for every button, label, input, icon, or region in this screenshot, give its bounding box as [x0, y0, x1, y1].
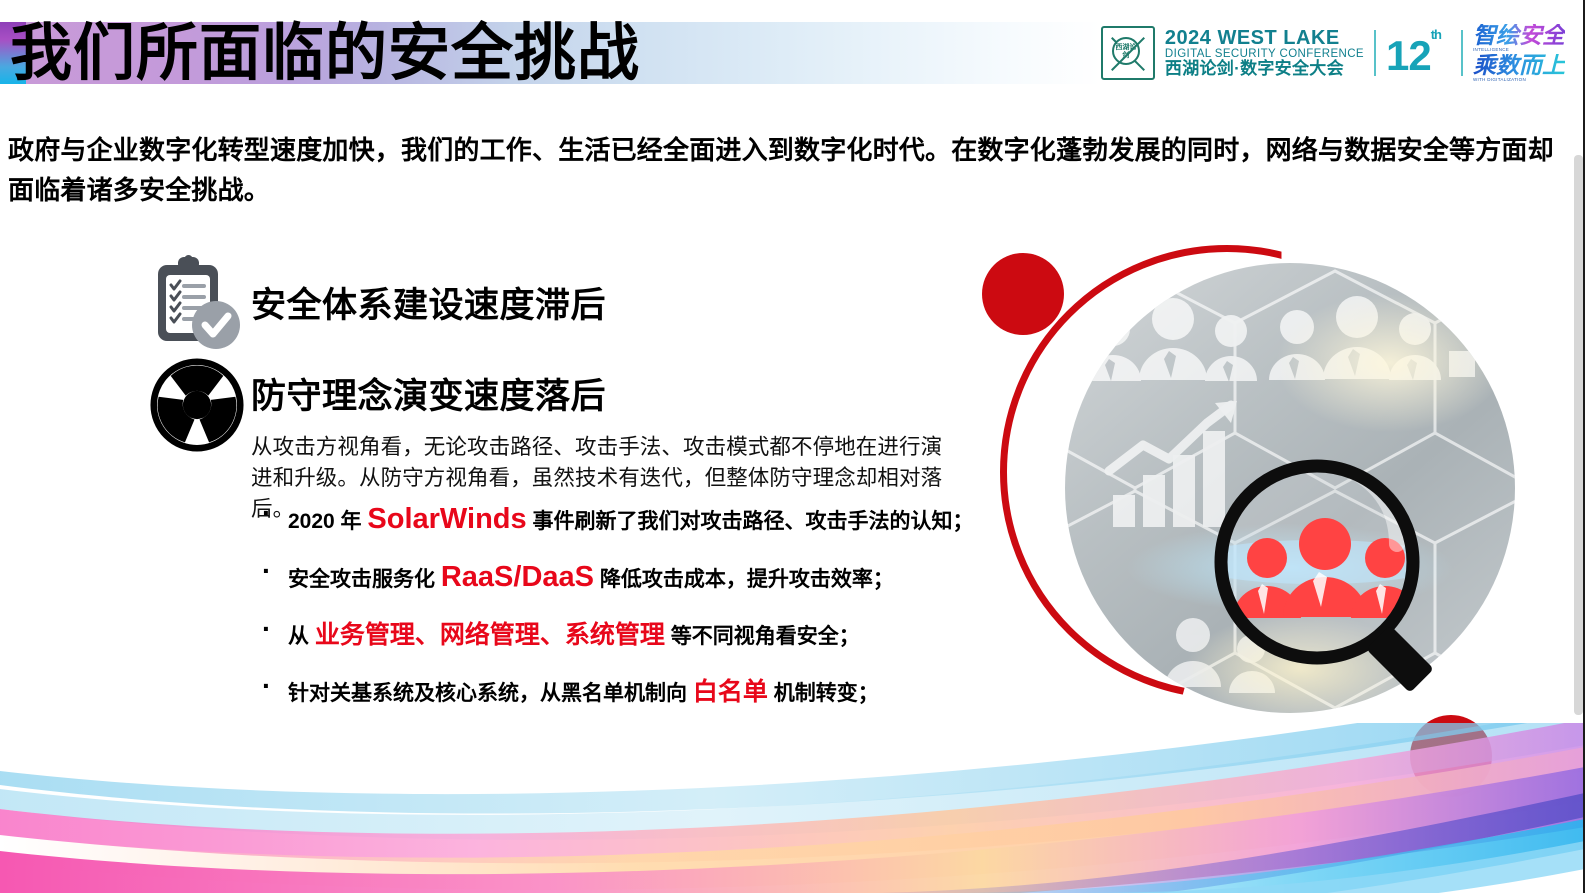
- title-banner: 我们所面临的安全挑战: [0, 22, 1100, 84]
- bullet-post-text: 事件刷新了我们对攻击路径、攻击手法的认知；: [527, 510, 974, 533]
- list-item: 安全攻击服务化 RaaS/DaaS 降低攻击成本，提升攻击效率；: [256, 563, 986, 594]
- intro-paragraph: 政府与企业数字化转型速度加快，我们的工作、生活已经全面进入到数字化时代。在数字化…: [8, 130, 1578, 210]
- decorative-wave-footer: [0, 723, 1585, 893]
- logo-divider-2: [1461, 30, 1463, 76]
- conference-name-cn: 西湖论剑·数字安全大会: [1165, 60, 1364, 77]
- red-dot-top: [982, 253, 1064, 335]
- list-item: 从 业务管理、网络管理、系统管理 等不同视角看安全；: [256, 621, 986, 651]
- list-item: 2020 年 SolarWinds 事件刷新了我们对攻击路径、攻击手法的认知；: [256, 505, 986, 536]
- conference-name-en: 2024 WEST LAKE: [1165, 28, 1364, 48]
- slogan-line-2: 乘数而上: [1473, 54, 1565, 77]
- bullet-emphasis: 业务管理、网络管理、系统管理: [315, 621, 665, 649]
- bullet-emphasis: RaaS/DaaS: [441, 561, 594, 593]
- conference-logo-lockup: 西湖论剑 2024 WEST LAKE DIGITAL SECURITY CON…: [1101, 24, 1565, 82]
- list-item: 针对关基系统及核心系统，从黑名单机制向 白名单 机制转变；: [256, 678, 986, 708]
- conference-name-block: 2024 WEST LAKE DIGITAL SECURITY CONFEREN…: [1165, 28, 1364, 77]
- west-lake-seal-icon: 西湖论剑: [1101, 26, 1155, 80]
- radiation-icon: [150, 358, 244, 452]
- section-heading-1: 安全体系建设速度滞后: [251, 277, 606, 328]
- logo-divider: [1374, 30, 1376, 76]
- bullet-emphasis: 白名单: [693, 678, 768, 706]
- magnifier-icon: [1205, 450, 1470, 725]
- bullet-pre-text: 2020 年: [288, 510, 367, 533]
- bullet-list: 2020 年 SolarWinds 事件刷新了我们对攻击路径、攻击手法的认知； …: [256, 505, 986, 735]
- slide-canvas: 我们所面临的安全挑战 西湖论剑 2024 WEST LAKE DIGITAL S…: [0, 0, 1585, 893]
- slogan-sub-4: WITH DIGITALIZATION: [1473, 78, 1565, 83]
- scrollbar-thumb[interactable]: [1574, 155, 1583, 715]
- edition-badge: 12th: [1386, 29, 1451, 78]
- building-icon: [1441, 289, 1497, 377]
- clipboard-check-icon: [148, 255, 244, 355]
- bullet-post-text: 机制转变；: [768, 682, 879, 705]
- bullet-emphasis: SolarWinds: [367, 503, 526, 535]
- slogan-line-1: 智绘安全: [1473, 24, 1565, 47]
- bullet-post-text: 降低攻击成本，提升攻击效率；: [594, 568, 894, 591]
- bullet-post-text: 等不同视角看安全；: [665, 625, 860, 648]
- bullet-pre-text: 安全攻击服务化: [288, 568, 441, 591]
- edition-number: 12: [1386, 32, 1431, 79]
- bullet-pre-text: 针对关基系统及核心系统，从黑名单机制向: [288, 682, 693, 705]
- bullet-pre-text: 从: [288, 625, 315, 648]
- conference-slogan-block: 智绘安全 INTELLIGENCE 乘数而上 WITH DIGITALIZATI…: [1473, 24, 1565, 83]
- section-heading-2: 防守理念演变速度落后: [251, 368, 606, 419]
- edition-suffix: th: [1431, 27, 1441, 42]
- seal-inner-text: 西湖论剑: [1112, 37, 1140, 65]
- security-insight-illustration: [970, 245, 1585, 805]
- page-title: 我们所面临的安全挑战: [10, 20, 640, 88]
